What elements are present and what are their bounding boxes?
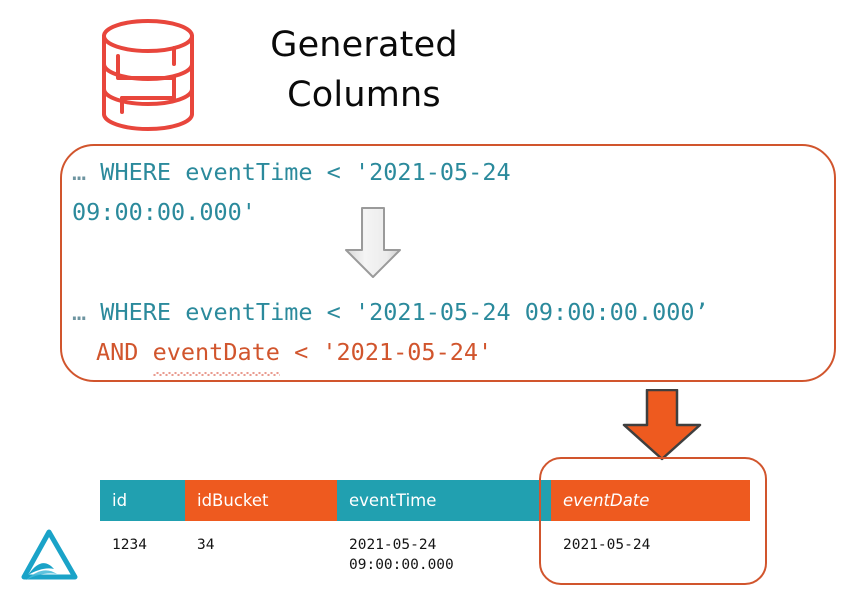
table-header-eventdate: eventDate: [551, 480, 750, 521]
page-title-block: Generated Columns: [96, 12, 516, 132]
sql-ellipsis-2: …: [72, 298, 86, 326]
sql-literal-2: '2021-05-24 09:00:00.000’: [355, 298, 709, 326]
sql-ellipsis-1: …: [72, 158, 86, 186]
down-arrow-gray-icon: [344, 206, 402, 280]
table-row: 1234 34 2021-05-24 09:00:00.000 2021-05-…: [100, 521, 750, 576]
database-cylinder-icon: [96, 16, 200, 134]
apache-pinot-logo: [18, 527, 80, 587]
table-header-id: id: [100, 480, 185, 521]
table-header-eventtime: eventTime: [337, 480, 551, 521]
table-cell-eventdate: 2021-05-24: [551, 535, 762, 555]
sql-literal-1a: '2021-05-24: [355, 158, 511, 186]
table-header-idbucket: idBucket: [185, 480, 337, 521]
page-title-line-1: Generated: [214, 20, 514, 70]
table-cell-eventtime: 2021-05-24 09:00:00.000: [337, 535, 563, 575]
page-title: Generated Columns: [214, 20, 514, 120]
sql-literal-1b: 09:00:00.000': [72, 198, 256, 226]
table-header-row: id idBucket eventTime eventDate: [100, 480, 750, 521]
sql-keyword-2: WHERE eventTime <: [86, 298, 355, 326]
sql-and-keyword: AND: [96, 338, 153, 366]
sql-original-query: … WHERE eventTime < '2021-05-24 09:00:00…: [72, 152, 812, 232]
page-title-line-2: Columns: [214, 70, 514, 120]
sql-literal-3: '2021-05-24': [322, 338, 492, 366]
sql-rewritten-query-line-1: … WHERE eventTime < '2021-05-24 09:00:00…: [72, 292, 832, 332]
sql-rewritten-query-line-2: AND eventDate < '2021-05-24': [96, 332, 816, 372]
sql-query-card: … WHERE eventTime < '2021-05-24 09:00:00…: [60, 144, 836, 382]
sql-operator-3: <: [280, 338, 322, 366]
sql-keyword-1: WHERE eventTime <: [86, 158, 355, 186]
table-cell-idbucket: 34: [185, 535, 349, 555]
result-table: id idBucket eventTime eventDate 1234 34 …: [100, 480, 750, 576]
sql-generated-column-name: eventDate: [153, 332, 280, 372]
down-arrow-orange-icon: [621, 389, 703, 461]
table-cell-id: 1234: [100, 535, 197, 555]
